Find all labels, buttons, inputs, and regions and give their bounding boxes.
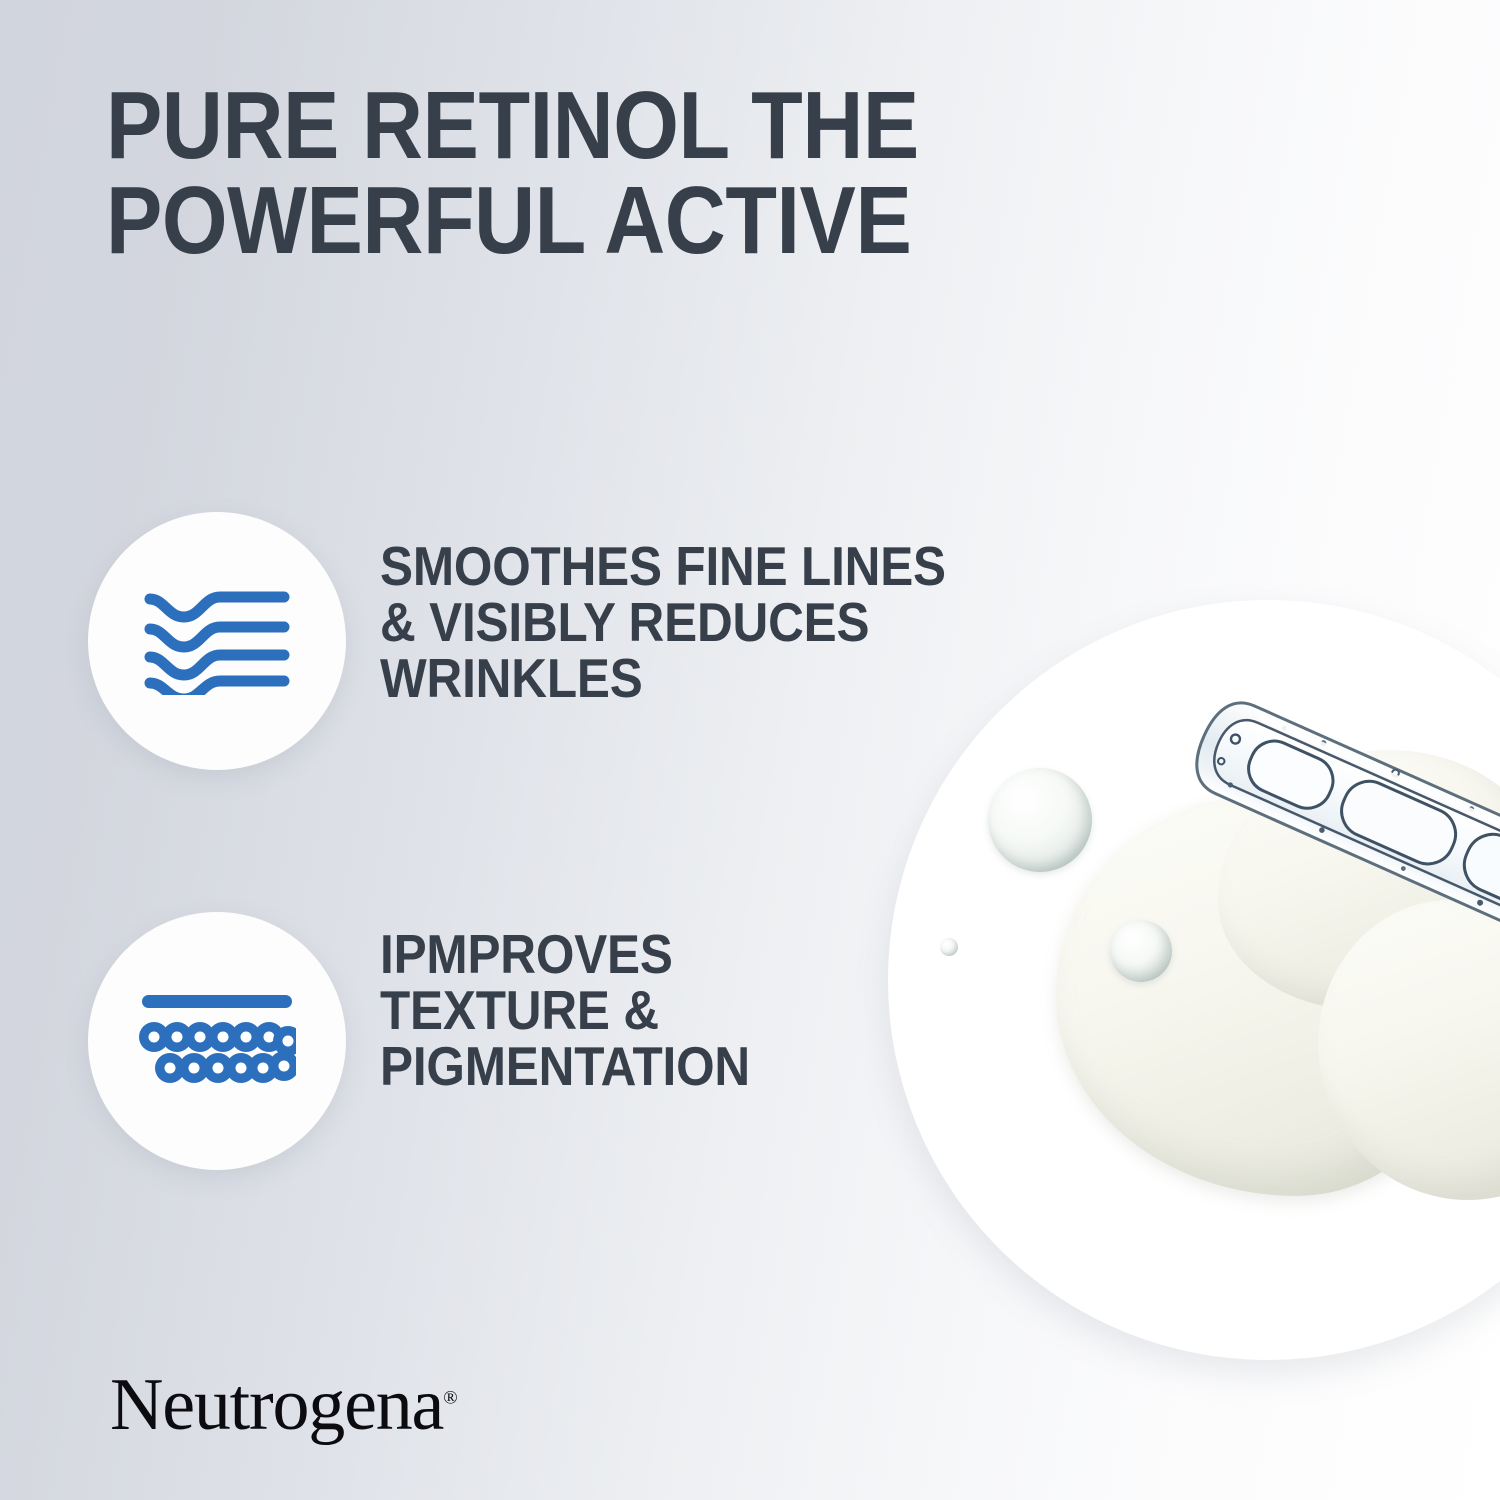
feature-0-line-3: WRINKLES [380,650,946,706]
page-title: PURE RETINOL THE POWERFUL ACTIVE [106,78,1074,268]
registered-trademark-icon: ® [443,1387,457,1408]
small-droplet [940,938,958,956]
feature-icon-badge [88,512,346,770]
feature-improves-texture-text: IPMPROVES TEXTURE & PIGMENTATION [380,926,750,1094]
feature-smoothes-fine-lines-text: SMOOTHES FINE LINES & VISIBLY REDUCES WR… [380,538,946,706]
feature-1-line-1: IPMPROVES [380,926,750,982]
product-photo [888,600,1500,1360]
skin-texture-icon [138,993,296,1089]
feature-0-line-2: & VISIBLY REDUCES [380,594,946,650]
medium-droplet [1110,920,1172,982]
large-droplet [988,768,1092,872]
feature-1-line-2: TEXTURE & [380,982,750,1038]
brand-name: Neutrogena [110,1364,443,1446]
feature-1-line-3: PIGMENTATION [380,1038,750,1094]
headline-line-2: POWERFUL ACTIVE [106,173,1074,268]
photo-clip [888,600,1500,1360]
smoothing-lines-icon [142,587,292,695]
headline-line-1: PURE RETINOL THE [106,78,1074,173]
feature-0-line-1: SMOOTHES FINE LINES [380,538,946,594]
feature-icon-badge [88,912,346,1170]
promo-canvas: PURE RETINOL THE POWERFUL ACTIVE SMOOTHE… [0,0,1500,1500]
brand-logo: Neutrogena® [110,1368,458,1442]
